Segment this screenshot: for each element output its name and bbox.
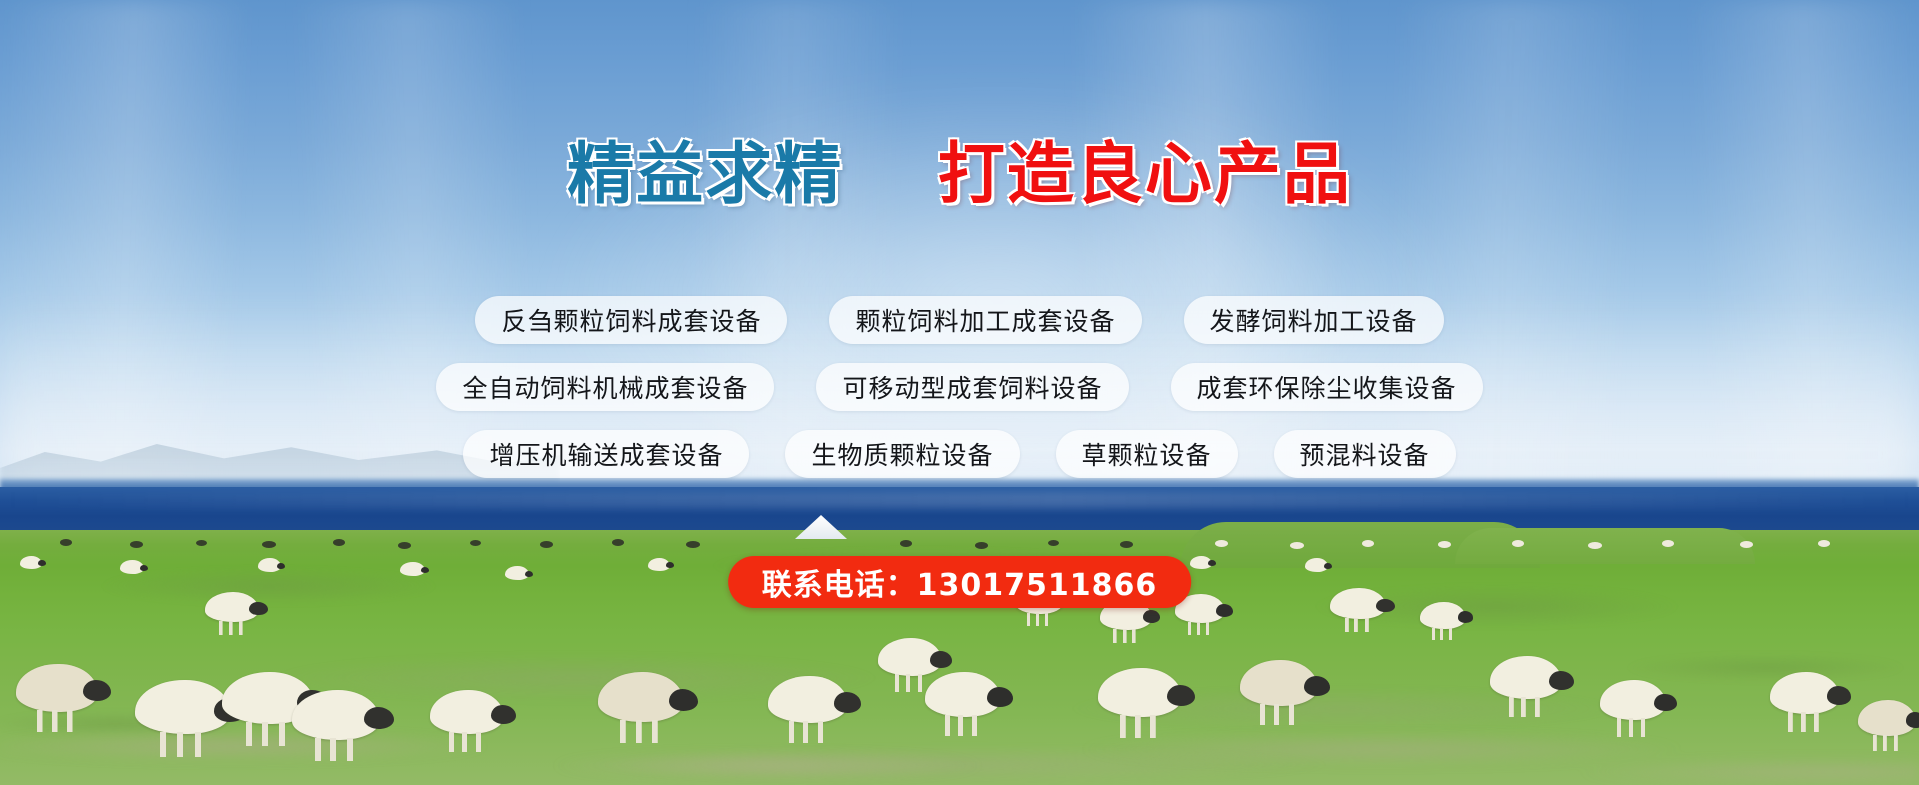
product-tag-ruminant-pellet-feed[interactable]: 反刍颗粒饲料成套设备 <box>475 296 787 344</box>
contact-phone-banner[interactable]: 联系电话：13017511866 <box>728 556 1192 608</box>
headline-red-text: 打造良心产品 <box>938 139 1352 209</box>
product-tag-row-1: 反刍颗粒饲料成套设备 颗粒饲料加工成套设备 发酵饲料加工设备 <box>0 296 1919 344</box>
product-tag-pellet-feed-processing[interactable]: 颗粒饲料加工成套设备 <box>829 296 1141 344</box>
product-tag-grass-pellet-equipment[interactable]: 草颗粒设备 <box>1056 430 1238 478</box>
product-tag-row-3: 增压机输送成套设备 生物质颗粒设备 草颗粒设备 预混料设备 <box>0 430 1919 478</box>
contact-phone-text: 联系电话：13017511866 <box>762 560 1158 604</box>
product-tag-automatic-feed-machinery[interactable]: 全自动饲料机械成套设备 <box>436 363 774 411</box>
product-tag-booster-conveying-equipment[interactable]: 增压机输送成套设备 <box>463 430 749 478</box>
hero-banner: 精益求精 打造良心产品 反刍颗粒饲料成套设备 颗粒饲料加工成套设备 发酵饲料加工… <box>0 0 1919 785</box>
banner-content: 精益求精 打造良心产品 反刍颗粒饲料成套设备 颗粒饲料加工成套设备 发酵饲料加工… <box>0 0 1919 785</box>
page-title: 精益求精 打造良心产品 <box>0 139 1919 209</box>
product-tag-biomass-pellet-equipment[interactable]: 生物质颗粒设备 <box>785 430 1019 478</box>
product-tag-list: 反刍颗粒饲料成套设备 颗粒饲料加工成套设备 发酵饲料加工设备 全自动饲料机械成套… <box>0 296 1919 497</box>
headline-blue-text: 精益求精 <box>567 139 843 209</box>
product-tag-fermented-feed-processing[interactable]: 发酵饲料加工设备 <box>1184 296 1444 344</box>
product-tag-premix-equipment[interactable]: 预混料设备 <box>1274 430 1456 478</box>
product-tag-dust-collection-equipment[interactable]: 成套环保除尘收集设备 <box>1171 363 1483 411</box>
product-tag-mobile-feed-equipment[interactable]: 可移动型成套饲料设备 <box>816 363 1128 411</box>
product-tag-row-2: 全自动饲料机械成套设备 可移动型成套饲料设备 成套环保除尘收集设备 <box>0 363 1919 411</box>
